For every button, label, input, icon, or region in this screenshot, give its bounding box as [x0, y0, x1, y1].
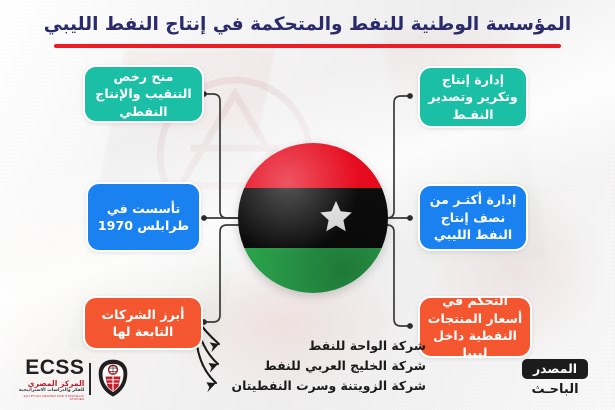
list-item: شركة الزويتنة وسرت النفطيتان	[228, 376, 426, 396]
infographic-canvas: المؤسسة الوطنية للنفط والمتحكمة في إنتاج…	[0, 0, 615, 410]
info-box-production-refining-export[interactable]: إدارة إنتاج وتكرير وتصدير النفـط	[418, 66, 528, 128]
source-label: المصدر	[522, 359, 588, 379]
logo-wordmark: ECSS المركز المصري للفكر والدراسات الاست…	[10, 357, 84, 401]
ecss-emblem-icon	[96, 358, 130, 400]
source-value: الباحـث	[507, 382, 603, 397]
source-attribution: المصدر الباحـث	[507, 358, 603, 397]
logo-arabic-name: المركز المصري	[28, 380, 85, 388]
info-box-half-of-output[interactable]: إدارة أكثـر من نصف إنتاج النفط الليبي	[418, 184, 528, 251]
title-underline	[54, 44, 561, 48]
info-box-founded-tripoli[interactable]: تأسست في طرابلس 1970	[86, 182, 201, 252]
subsidiary-company-list: شركة الواحة للنفط شركة الخليج العربي للن…	[228, 336, 426, 397]
logo-acronym: ECSS	[25, 357, 84, 378]
list-item: شركة الواحة للنفط	[228, 336, 426, 356]
info-box-subsidiaries[interactable]: أبرز الشركات التابعة لها	[83, 296, 203, 350]
logo-arabic-sub: للفكر والدراسات الاستراتيجية	[19, 389, 85, 394]
ecss-logo: ECSS المركز المصري للفكر والدراسات الاست…	[10, 356, 130, 402]
globe-gloss	[238, 143, 388, 293]
info-box-drilling-licenses[interactable]: منح رخص التنقيب والإنتاج النفطي	[83, 65, 204, 123]
list-item: شركة الخليج العربي للنفط	[228, 356, 426, 376]
logo-divider	[89, 363, 91, 395]
info-box-price-control[interactable]: التحكم في أسعار المنتجات النفطية داخل لي…	[418, 296, 532, 358]
page-title: المؤسسة الوطنية للنفط والمتحكمة في إنتاج…	[0, 14, 615, 36]
logo-english-sub: EGYPTIAN CENTER FOR STRATEGIC STUDIES	[10, 395, 84, 401]
libya-flag-globe	[238, 143, 388, 293]
